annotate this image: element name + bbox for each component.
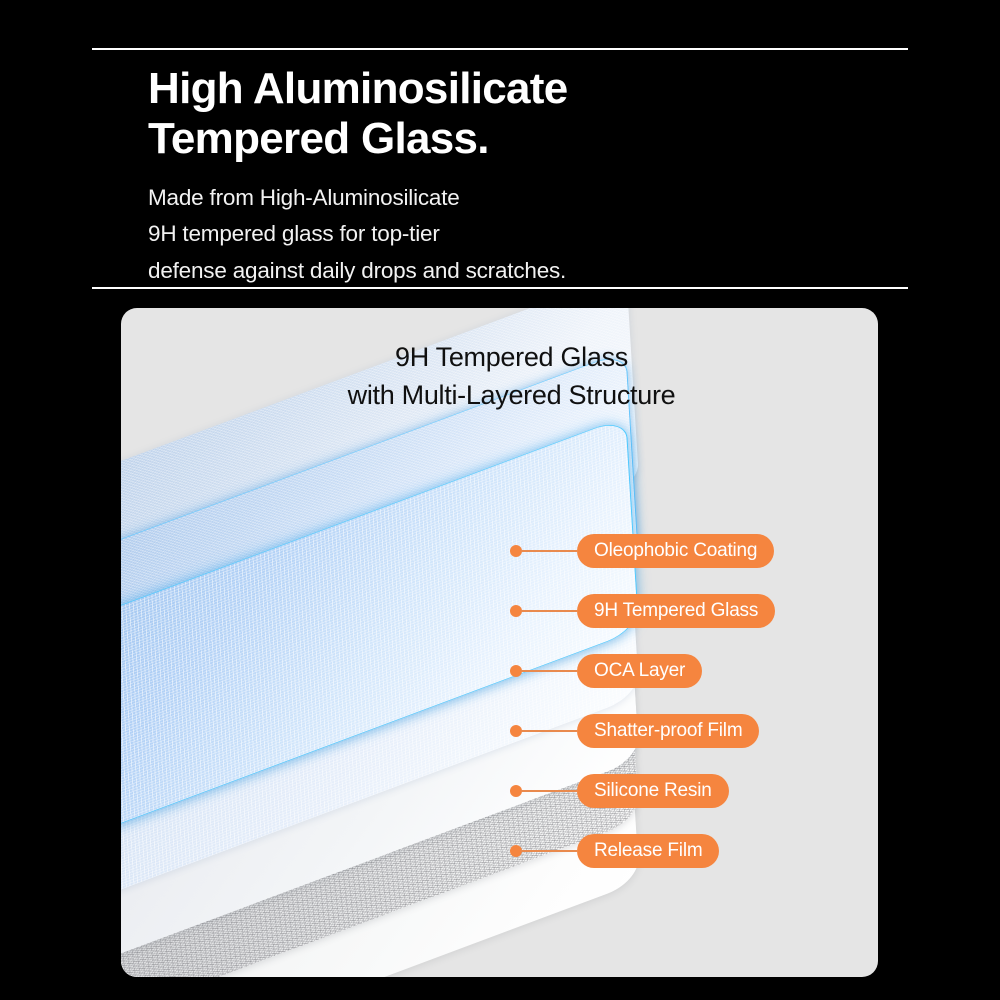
callout-leader-line xyxy=(521,790,577,792)
callout-leader-line xyxy=(521,850,577,852)
callout-label-pill[interactable]: Shatter-proof Film xyxy=(577,714,759,748)
callout-label-pill[interactable]: 9H Tempered Glass xyxy=(577,594,775,628)
callout-leader-line xyxy=(521,610,577,612)
callout-leader-line xyxy=(521,550,577,552)
callout-leader-line xyxy=(521,670,577,672)
callout-label-pill[interactable]: Oleophobic Coating xyxy=(577,534,774,568)
callout-label-pill[interactable]: OCA Layer xyxy=(577,654,702,688)
callout-list: Oleophobic Coating9H Tempered GlassOCA L… xyxy=(0,0,1000,1000)
callout-label-pill[interactable]: Release Film xyxy=(577,834,719,868)
infographic-root: High Aluminosilicate Tempered Glass. Mad… xyxy=(0,0,1000,1000)
callout-leader-line xyxy=(521,730,577,732)
callout-label-pill[interactable]: Silicone Resin xyxy=(577,774,729,808)
